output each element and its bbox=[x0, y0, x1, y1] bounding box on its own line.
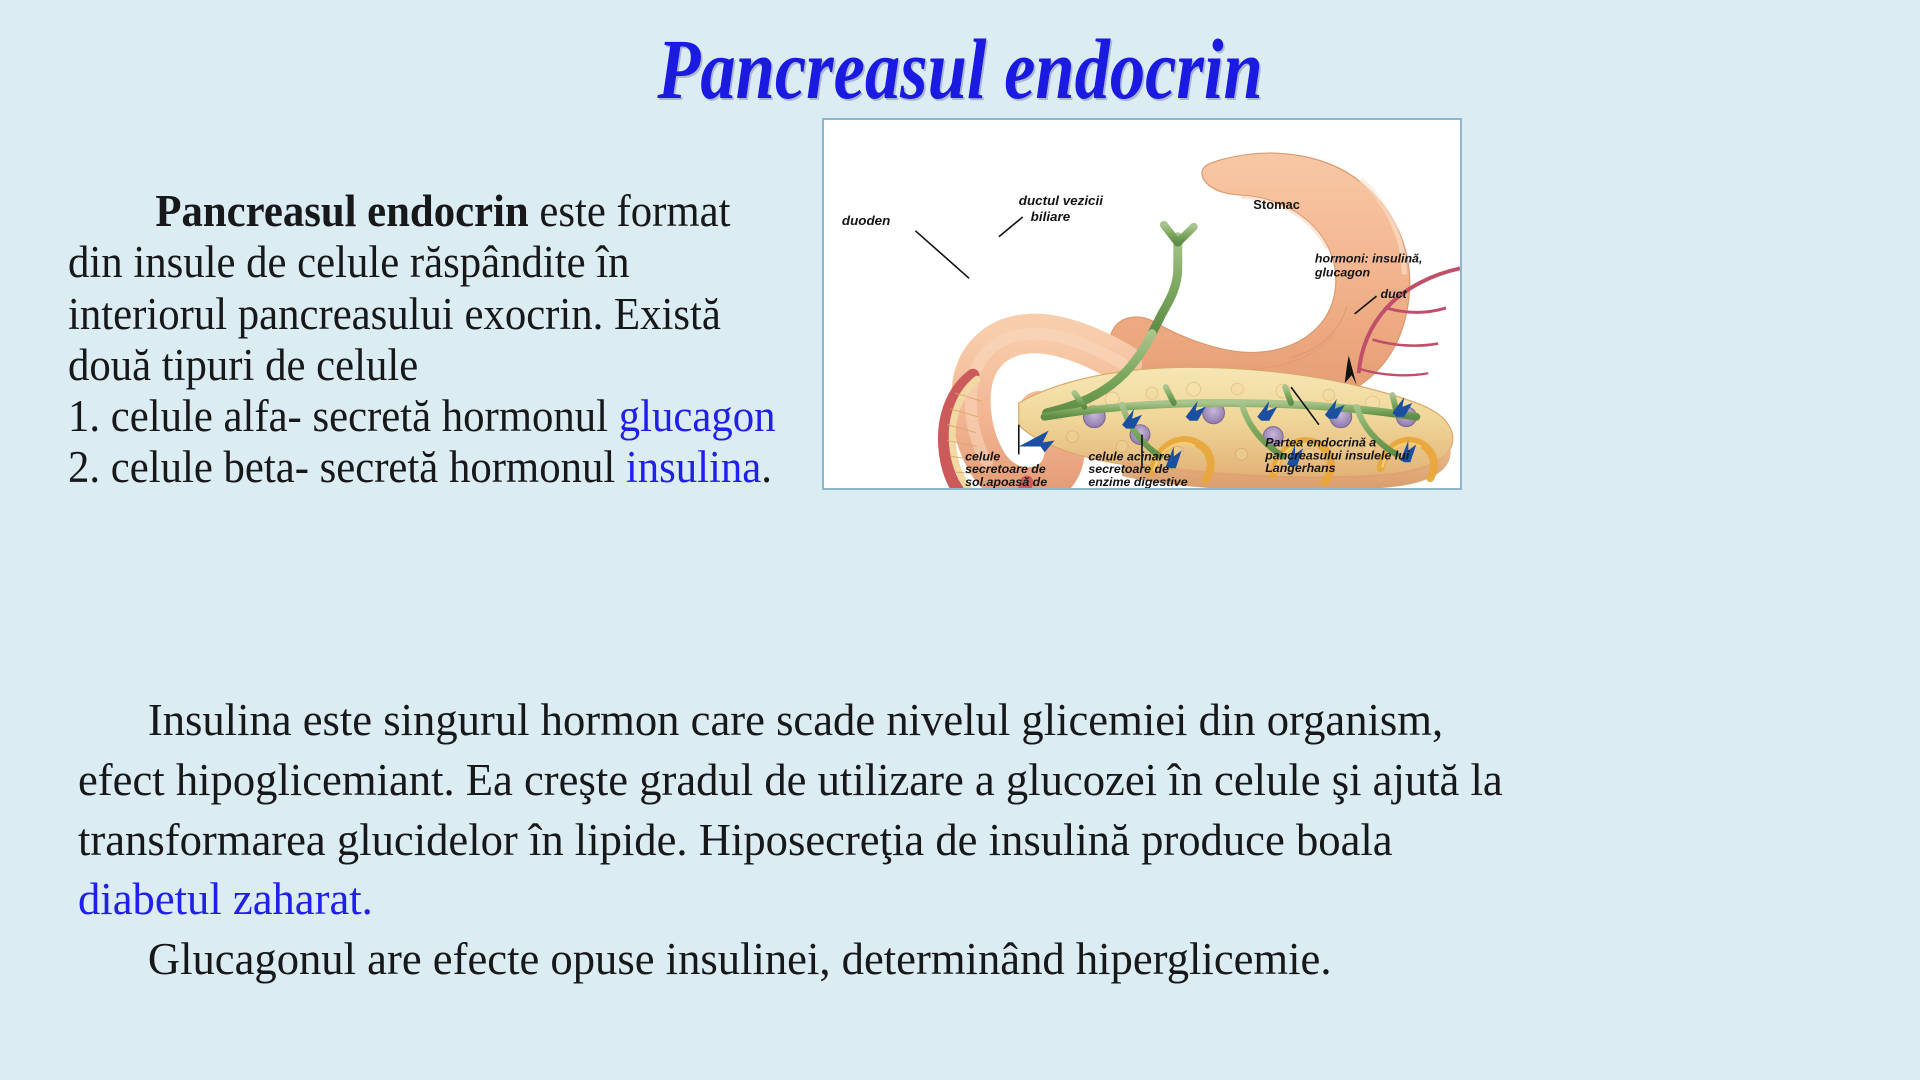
lead-bold-text: Pancreasul endocrin bbox=[155, 186, 528, 236]
pancreas-anatomy-illustration: duoden ductul vezicii biliare Stomac hor… bbox=[824, 120, 1460, 488]
label-duoden: duoden bbox=[842, 213, 890, 228]
bottom-line-4-highlight: diabetul zaharat. bbox=[78, 869, 1814, 929]
bottom-line-3: transformarea glucidelor în lipide. Hipo… bbox=[78, 810, 1814, 870]
paragraph-line-1-rest: este format bbox=[529, 186, 731, 236]
paragraph-line-2: din insule de celule răspândite în bbox=[68, 237, 790, 288]
slide-canvas: Pancreasul endocrin Pancreasul endocrin … bbox=[0, 0, 1920, 1080]
paragraph-line-1: Pancreasul endocrin este format bbox=[68, 186, 790, 237]
label-celule-acinare-line3: enzime digestive bbox=[1088, 475, 1187, 488]
label-ductul-vezicii-line2: biliare bbox=[1031, 209, 1071, 224]
list-item-2-highlight: insulina bbox=[626, 442, 761, 492]
label-stomac: Stomac bbox=[1253, 197, 1300, 212]
bottom-line-1: Insulina este singurul hormon care scade… bbox=[78, 690, 1814, 750]
bottom-line-2: efect hipoglicemiant. Ea creşte gradul d… bbox=[78, 750, 1814, 810]
label-partea-endocrina-line3: Langerhans bbox=[1265, 461, 1335, 475]
label-celule-secretoare-line3: sol.apoasă de bbox=[965, 475, 1047, 488]
label-hormoni-line2: glucagon bbox=[1314, 265, 1371, 279]
page-title: Pancreasul endocrin bbox=[173, 24, 1747, 114]
list-item-2-suffix: . bbox=[761, 442, 772, 492]
bottom-line-5-text: Glucagonul are efecte opuse insulinei, d… bbox=[148, 933, 1332, 984]
paragraph-line-4: două tipuri de celule bbox=[68, 340, 790, 391]
bottom-line-1-text: Insulina este singurul hormon care scade… bbox=[148, 694, 1443, 745]
list-item-2-text: 2. celule beta- secretă hormonul bbox=[68, 442, 626, 492]
list-item-1-highlight: glucagon bbox=[619, 391, 776, 441]
list-item-1-text: 1. celule alfa- secretă hormonul bbox=[68, 391, 619, 441]
left-text-block: Pancreasul endocrin este format din insu… bbox=[68, 186, 790, 494]
list-item-1: 1. celule alfa- secretă hormonul glucago… bbox=[68, 391, 790, 442]
bottom-line-5: Glucagonul are efecte opuse insulinei, d… bbox=[78, 929, 1814, 989]
label-duct: duct bbox=[1381, 287, 1408, 301]
label-hormoni-line1: hormoni: insulină, bbox=[1315, 251, 1422, 265]
pancreas-anatomy-figure: duoden ductul vezicii biliare Stomac hor… bbox=[822, 118, 1462, 490]
bottom-text-block: Insulina este singurul hormon care scade… bbox=[78, 690, 1814, 989]
list-item-2: 2. celule beta- secretă hormonul insulin… bbox=[68, 442, 790, 493]
label-ductul-vezicii-line1: ductul vezicii bbox=[1019, 193, 1103, 208]
paragraph-line-3: interiorul pancreasului exocrin. Există bbox=[68, 289, 790, 340]
